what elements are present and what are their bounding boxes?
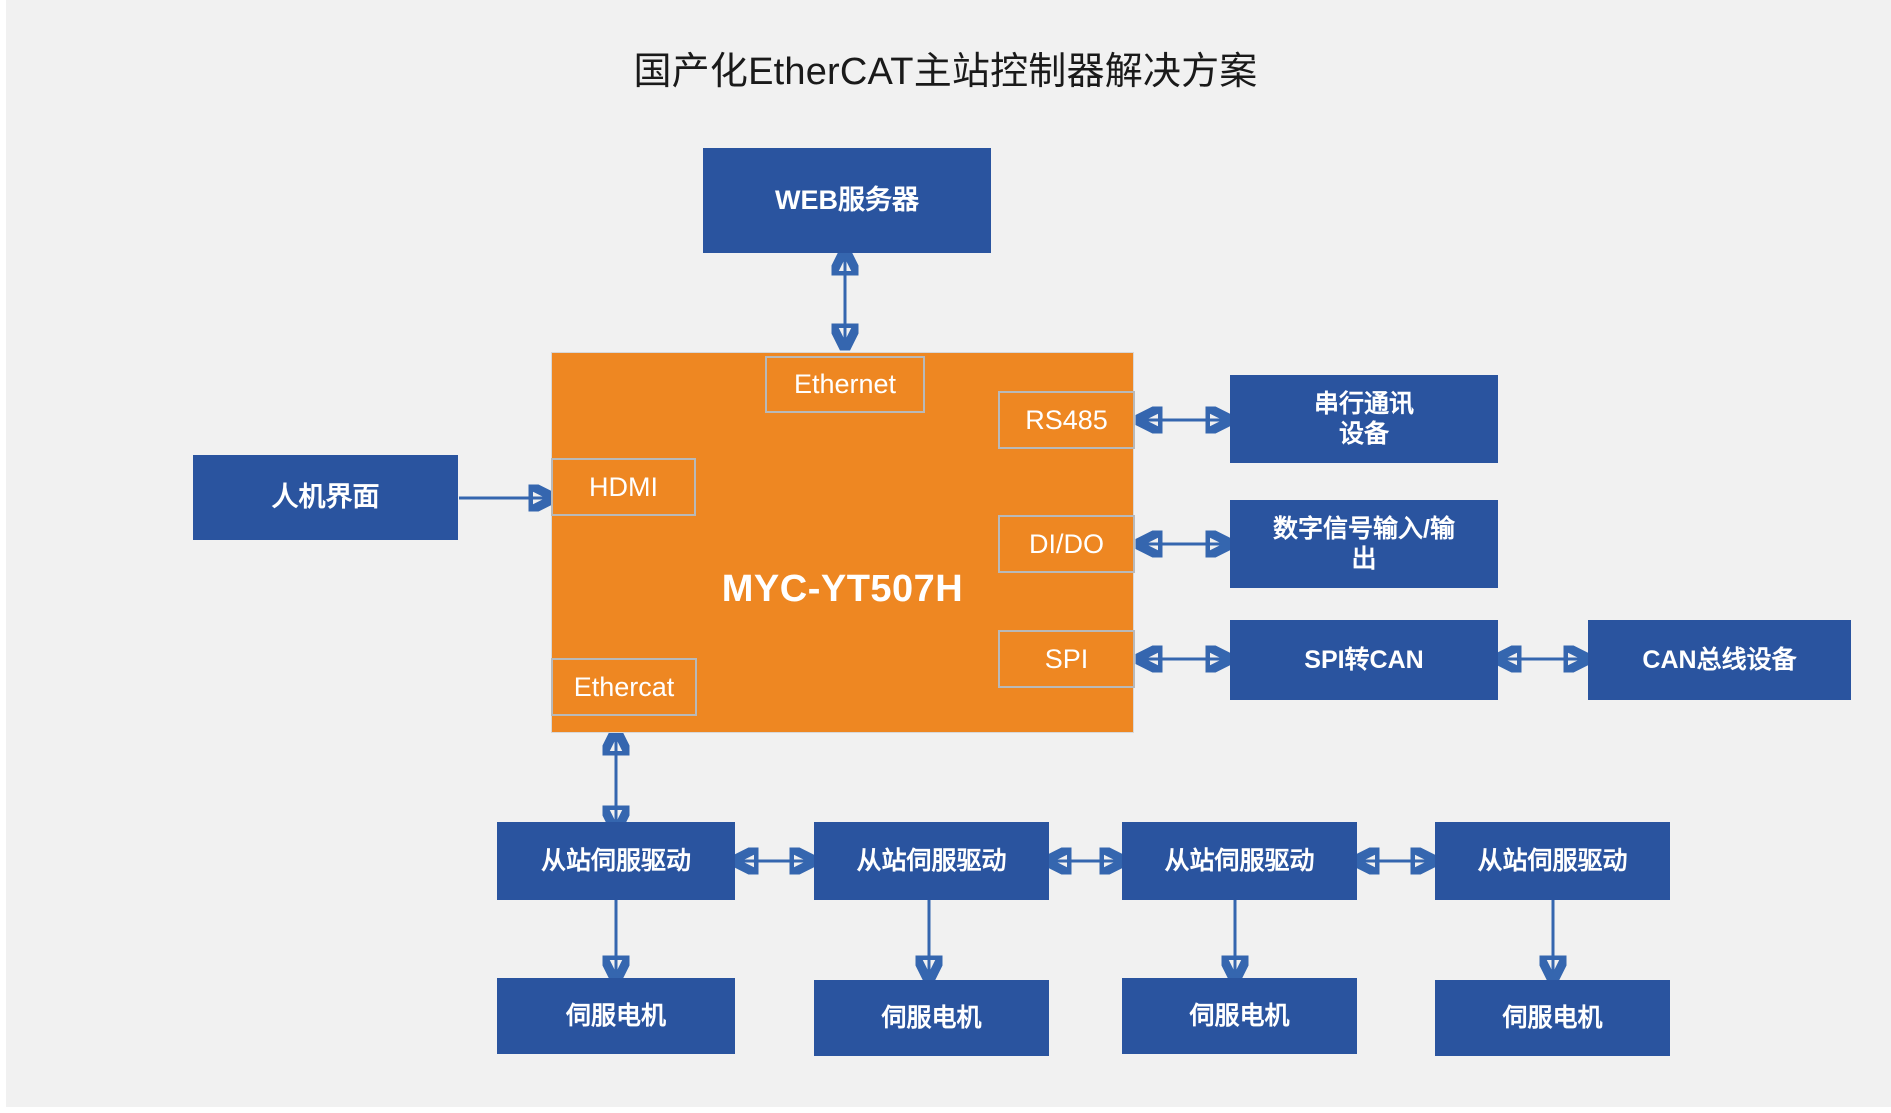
node-digital-io[interactable]: 数字信号输入/输 出 bbox=[1230, 500, 1498, 588]
node-spi-to-can-label: SPI转CAN bbox=[1304, 645, 1423, 676]
node-servo-motor-1-label: 伺服电机 bbox=[566, 1001, 666, 1032]
node-serial-device-label-line1: 串行通讯 bbox=[1314, 389, 1414, 420]
node-slave-drive-3-label: 从站伺服驱动 bbox=[1164, 846, 1314, 877]
node-digital-io-label-line1: 数字信号输入/输 bbox=[1273, 514, 1455, 545]
node-servo-motor-2-label: 伺服电机 bbox=[881, 1003, 981, 1034]
port-hdmi[interactable]: HDMI bbox=[551, 458, 696, 516]
port-spi[interactable]: SPI bbox=[998, 630, 1135, 688]
node-web-server[interactable]: WEB服务器 bbox=[703, 148, 991, 253]
node-web-server-label: WEB服务器 bbox=[775, 184, 919, 217]
port-ethernet[interactable]: Ethernet bbox=[765, 356, 925, 413]
node-servo-motor-4-label: 伺服电机 bbox=[1502, 1003, 1602, 1034]
port-dido-label: DI/DO bbox=[1029, 529, 1104, 560]
port-hdmi-label: HDMI bbox=[589, 472, 658, 503]
node-serial-device-label-line2: 设备 bbox=[1339, 419, 1389, 450]
node-can-bus-device-label: CAN总线设备 bbox=[1642, 645, 1796, 676]
node-slave-drive-2[interactable]: 从站伺服驱动 bbox=[814, 822, 1049, 900]
port-spi-label: SPI bbox=[1045, 644, 1089, 675]
port-ethercat-label: Ethercat bbox=[574, 672, 675, 703]
node-servo-motor-4[interactable]: 伺服电机 bbox=[1435, 980, 1670, 1056]
node-slave-drive-2-label: 从站伺服驱动 bbox=[856, 846, 1006, 877]
node-slave-drive-1-label: 从站伺服驱动 bbox=[541, 846, 691, 877]
node-slave-drive-1[interactable]: 从站伺服驱动 bbox=[497, 822, 735, 900]
node-hmi-label: 人机界面 bbox=[272, 481, 380, 514]
node-serial-device[interactable]: 串行通讯 设备 bbox=[1230, 375, 1498, 463]
node-servo-motor-2[interactable]: 伺服电机 bbox=[814, 980, 1049, 1056]
port-dido[interactable]: DI/DO bbox=[998, 515, 1135, 573]
core-controller-label: MYC-YT507H bbox=[552, 568, 1133, 611]
node-servo-motor-1[interactable]: 伺服电机 bbox=[497, 978, 735, 1054]
node-servo-motor-3[interactable]: 伺服电机 bbox=[1122, 978, 1357, 1054]
diagram-canvas: 国产化EtherCAT主站控制器解决方案 bbox=[0, 0, 1891, 1113]
port-ethercat[interactable]: Ethercat bbox=[551, 658, 697, 716]
port-rs485-label: RS485 bbox=[1025, 405, 1108, 436]
node-slave-drive-3[interactable]: 从站伺服驱动 bbox=[1122, 822, 1357, 900]
node-slave-drive-4[interactable]: 从站伺服驱动 bbox=[1435, 822, 1670, 900]
port-ethernet-label: Ethernet bbox=[794, 369, 896, 400]
port-rs485[interactable]: RS485 bbox=[998, 391, 1135, 449]
node-digital-io-label-line2: 出 bbox=[1351, 544, 1376, 575]
node-spi-to-can[interactable]: SPI转CAN bbox=[1230, 620, 1498, 700]
node-slave-drive-4-label: 从站伺服驱动 bbox=[1477, 846, 1627, 877]
node-hmi[interactable]: 人机界面 bbox=[193, 455, 458, 540]
node-servo-motor-3-label: 伺服电机 bbox=[1189, 1001, 1289, 1032]
node-can-bus-device[interactable]: CAN总线设备 bbox=[1588, 620, 1851, 700]
